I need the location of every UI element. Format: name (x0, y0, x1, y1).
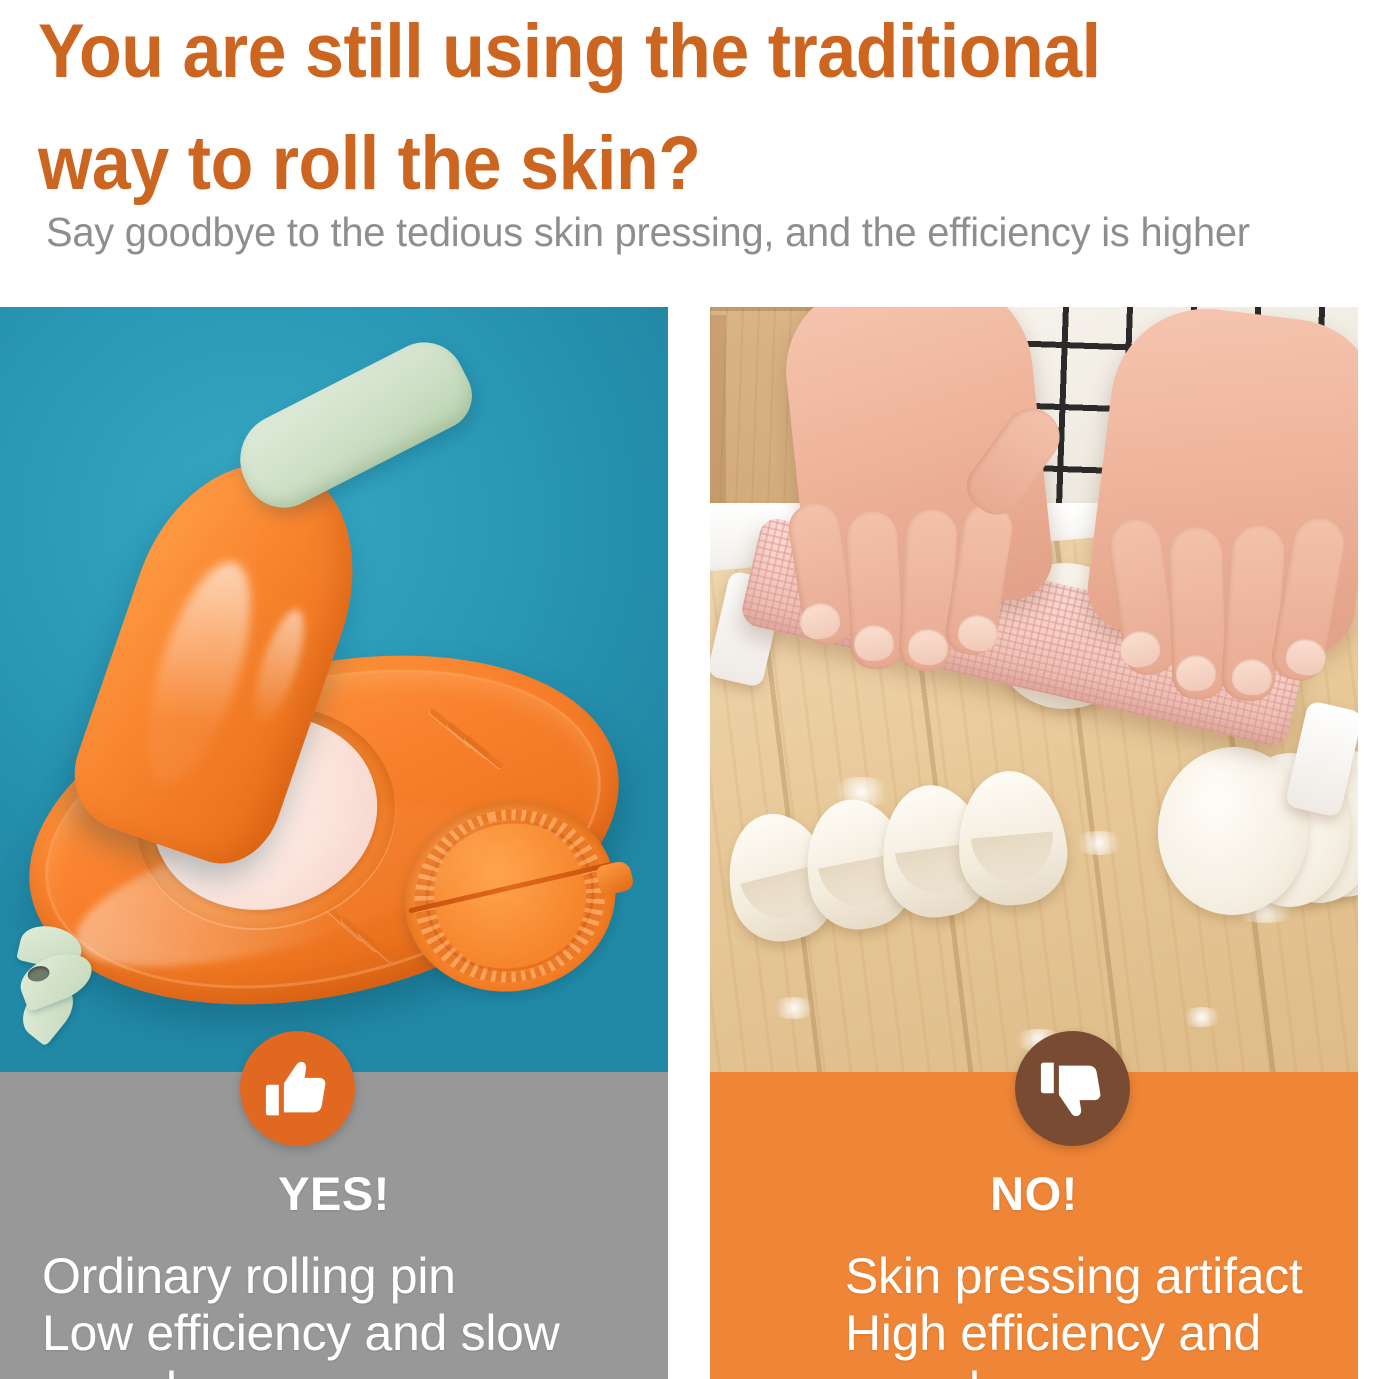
verdict-label-right: NO! (710, 1166, 1358, 1221)
caption-text-right: Skin pressing artifact High efficiency a… (845, 1248, 1365, 1379)
product-photo-rolling-pin (710, 307, 1358, 1072)
flour-dust (1180, 1007, 1224, 1027)
product-photo-press-tool (0, 307, 668, 1072)
flour-dust (770, 997, 818, 1019)
thumbs-down-icon (1037, 1053, 1109, 1125)
wall-panel-edge (710, 315, 726, 523)
thumbs-down-badge (1015, 1031, 1130, 1146)
product-comparison-infographic: You are still using the traditional way … (0, 0, 1379, 1379)
caption-text-left: Ordinary rolling pin Low efficiency and … (42, 1248, 662, 1379)
thumbs-up-badge (240, 1031, 355, 1146)
crimper-tab (595, 860, 635, 897)
green-handle-grip (224, 329, 483, 522)
fingernail (853, 624, 895, 662)
dumpling-press-tool-illustration (0, 307, 668, 1072)
page-title: You are still using the traditional way … (38, 0, 1262, 220)
header: You are still using the traditional way … (0, 0, 1379, 307)
fingernail (1175, 654, 1216, 691)
flour-dust (1072, 831, 1126, 855)
verdict-label-left: YES! (0, 1166, 668, 1221)
thumbs-up-icon (262, 1053, 334, 1125)
page-subtitle: Say goodbye to the tedious skin pressing… (46, 208, 1326, 256)
